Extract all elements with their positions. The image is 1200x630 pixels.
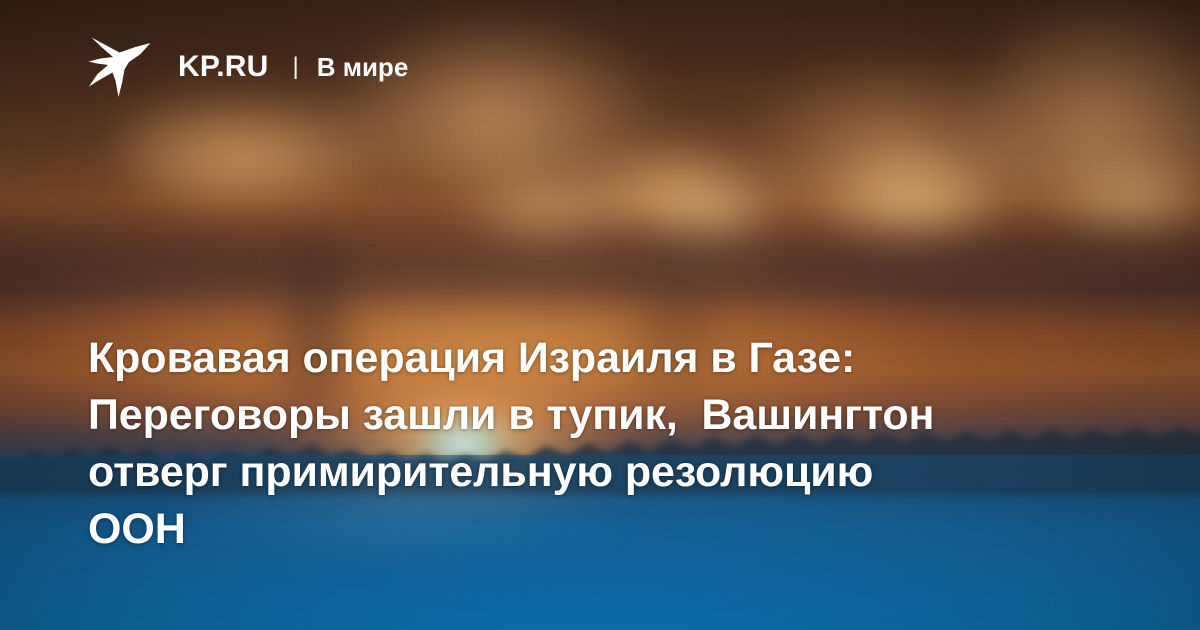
headline-line-3: отверг примирительную резолюцию xyxy=(88,444,1098,501)
section-name[interactable]: В мире xyxy=(317,54,409,80)
brand-name[interactable]: KP.RU xyxy=(178,52,268,82)
brand-header: KP.RU | В мире xyxy=(88,36,408,98)
headline-line-1: Кровавая операция Израиля в Газе: xyxy=(88,330,1098,387)
headline-line-2: Переговоры зашли в тупик, Вашингтон xyxy=(88,387,1098,444)
headline-line-4: ООН xyxy=(88,501,1098,558)
header-divider: | xyxy=(292,55,298,79)
headline: Кровавая операция Израиля в Газе: Перего… xyxy=(88,330,1098,558)
swallow-bird-logo-icon[interactable] xyxy=(88,36,154,98)
share-card: KP.RU | В мире Кровавая операция Израиля… xyxy=(0,0,1200,630)
